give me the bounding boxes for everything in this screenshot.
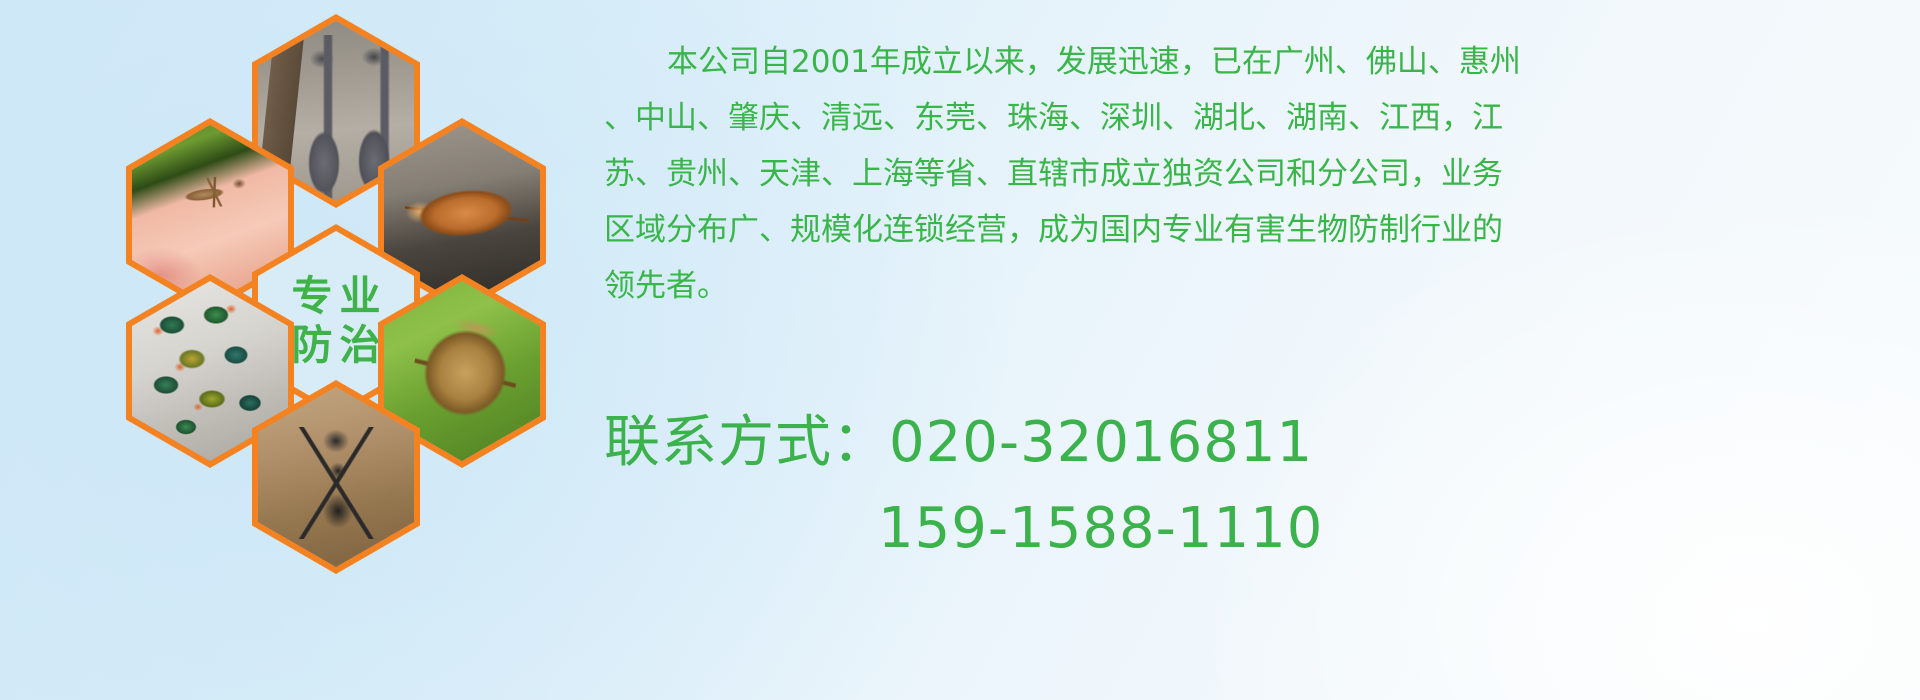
- ant-photo: [258, 387, 414, 567]
- contact-block: 联系方式：020-32016811 159-1588-1110: [604, 400, 1890, 572]
- intro-line: 区域分布广、规模化连锁经营，成为国内专业有害生物防制行业的: [604, 202, 1890, 258]
- contact-phone-primary[interactable]: 联系方式：020-32016811: [604, 400, 1890, 486]
- intro-line: 本公司自2001年成立以来，发展迅速，已在广州、佛山、惠州: [604, 34, 1890, 90]
- company-intro-paragraph: 本公司自2001年成立以来，发展迅速，已在广州、佛山、惠州 、中山、肇庆、清远、…: [604, 34, 1890, 314]
- intro-line: 、中山、肇庆、清远、东莞、珠海、深圳、湖北、湖南、江西，江: [604, 90, 1890, 146]
- slogan-line-1: 专业: [285, 275, 388, 318]
- slogan-line-2: 防治: [285, 324, 388, 367]
- honeycomb-collage: 专业 防治: [86, 8, 586, 556]
- contact-phone-secondary[interactable]: 159-1588-1110: [604, 486, 1890, 572]
- intro-line: 领先者。: [604, 258, 1890, 314]
- banner-root: 专业 防治 本公司自2001年成立以来，发展迅速，已在广州、佛山、惠州 、中山、…: [0, 0, 1920, 700]
- intro-line: 苏、贵州、天津、上海等省、直辖市成立独资公司和分公司，业务: [604, 146, 1890, 202]
